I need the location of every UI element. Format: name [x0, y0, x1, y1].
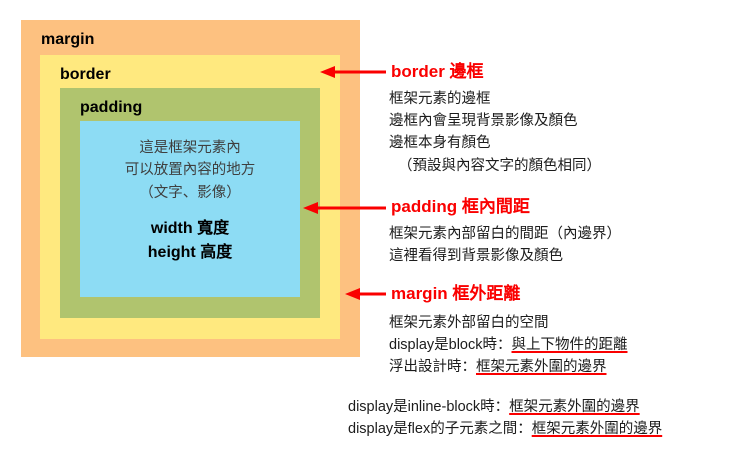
margin-annotation-line-2: display是block時：與上下物件的距離: [389, 334, 628, 356]
margin-annotation-line-1: 框架元素外部留白的空間: [389, 312, 628, 334]
margin-callout-arrow-icon: [343, 287, 386, 301]
content-line-3: （文字、影像）: [125, 182, 256, 204]
margin-line-2-emphasis: 與上下物件的距離: [512, 337, 628, 353]
padding-label: padding: [80, 100, 142, 116]
padding-annotation-line-2: 這裡看得到背景影像及顏色: [389, 245, 621, 267]
border-callout-arrow-icon: [318, 65, 386, 79]
content-box: 這是框架元素內 可以放置內容的地方 （文字、影像） width 寬度 heigh…: [80, 121, 300, 297]
margin-extra-line-1: display是inline-block時：框架元素外圍的邊界: [348, 396, 662, 418]
border-annotation-body: 框架元素的邊框 邊框內會呈現背景影像及顏色 邊框本身有顏色 （預設與內容文字的顏…: [389, 88, 601, 177]
content-line-1: 這是框架元素內: [125, 137, 256, 159]
border-label: border: [60, 67, 111, 83]
margin-annotation-body-extra: display是inline-block時：框架元素外圍的邊界 display是…: [348, 396, 662, 440]
border-box: border padding 這是框架元素內 可以放置內容的地方 （文字、影像）…: [40, 55, 340, 339]
margin-box: margin border padding 這是框架元素內 可以放置內容的地方 …: [21, 20, 360, 357]
border-annotation-heading: border 邊框: [391, 63, 484, 80]
padding-annotation-heading: padding 框內間距: [391, 198, 530, 215]
margin-annotation-heading: margin 框外距離: [391, 285, 520, 302]
content-width-line: width 寬度: [148, 217, 232, 241]
content-line-2: 可以放置內容的地方: [125, 159, 256, 181]
margin-extra-2-emphasis: 框架元素外圍的邊界: [532, 421, 663, 437]
content-dimensions: width 寬度 height 高度: [148, 217, 232, 265]
margin-annotation-body: 框架元素外部留白的空間 display是block時：與上下物件的距離 浮出設計…: [389, 312, 628, 379]
content-height-line: height 高度: [148, 241, 232, 265]
margin-label: margin: [41, 32, 94, 48]
padding-callout-arrow-icon: [301, 201, 386, 215]
margin-line-2-prefix: display是block時：: [389, 337, 512, 353]
margin-annotation-line-3: 浮出設計時：框架元素外圍的邊界: [389, 356, 628, 378]
margin-extra-line-2: display是flex的子元素之間：框架元素外圍的邊界: [348, 418, 662, 440]
margin-extra-1-prefix: display是inline-block時：: [348, 399, 509, 415]
margin-extra-1-emphasis: 框架元素外圍的邊界: [509, 399, 640, 415]
border-annotation-line-1: 框架元素的邊框: [389, 88, 601, 110]
padding-annotation-line-1: 框架元素內部留白的間距（內邊界）: [389, 223, 621, 245]
border-annotation-line-4: （預設與內容文字的顏色相同）: [389, 155, 601, 177]
border-annotation-line-2: 邊框內會呈現背景影像及顏色: [389, 110, 601, 132]
margin-line-3-emphasis: 框架元素外圍的邊界: [476, 359, 607, 375]
border-annotation-line-3: 邊框本身有顏色: [389, 132, 601, 154]
padding-box: padding 這是框架元素內 可以放置內容的地方 （文字、影像） width …: [60, 88, 320, 318]
content-description: 這是框架元素內 可以放置內容的地方 （文字、影像）: [125, 137, 256, 204]
box-model-diagram-canvas: margin border padding 這是框架元素內 可以放置內容的地方 …: [0, 0, 750, 461]
margin-extra-2-prefix: display是flex的子元素之間：: [348, 421, 532, 437]
margin-line-3-prefix: 浮出設計時：: [389, 359, 476, 375]
padding-annotation-body: 框架元素內部留白的間距（內邊界） 這裡看得到背景影像及顏色: [389, 223, 621, 267]
